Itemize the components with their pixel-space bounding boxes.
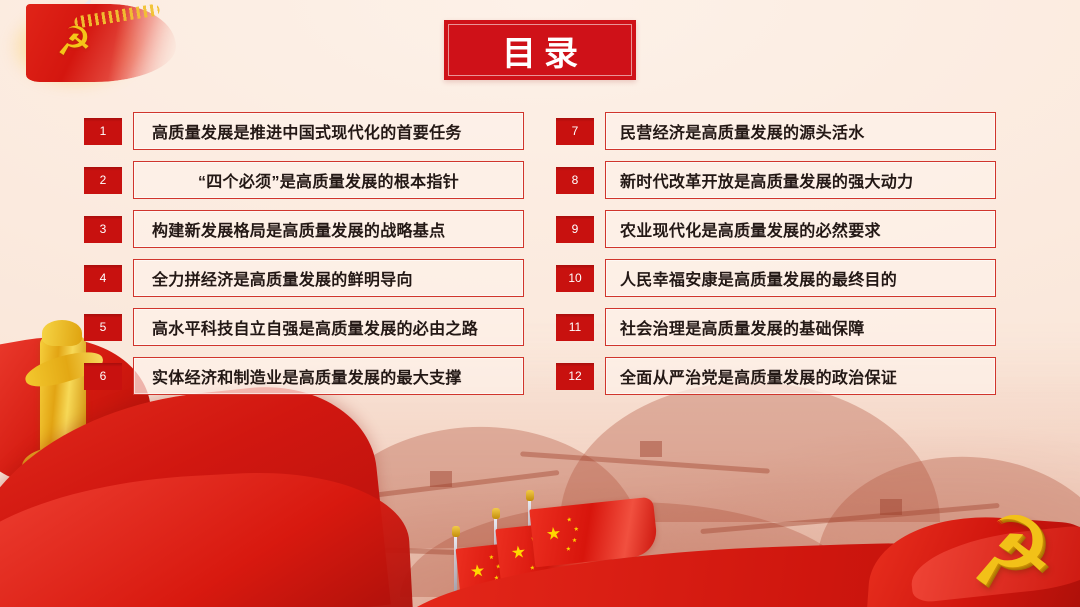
hammer-sickle-icon: ☭ xyxy=(56,22,98,62)
mini-flag-icon xyxy=(180,511,194,522)
toc-item-4[interactable]: 4 全力拼经济是高质量发展的鲜明导向 xyxy=(84,257,524,306)
toc-item-box[interactable]: 社会治理是高质量发展的基础保障 xyxy=(605,308,996,346)
spear-tip-icon xyxy=(30,9,48,30)
great-wall-segment xyxy=(360,547,780,567)
slide-title-box: 目录 xyxy=(444,20,636,80)
toc-item-label: “四个必须”是高质量发展的根本指针 xyxy=(198,168,459,192)
toc-item-box[interactable]: 构建新发展格局是高质量发展的战略基点 xyxy=(133,210,524,248)
red-ribbon xyxy=(393,534,1080,607)
party-emblem-decoration: ☭ xyxy=(890,497,1080,607)
toc-item-box[interactable]: 全面从严治党是高质量发展的政治保证 xyxy=(605,357,996,395)
flag-pole xyxy=(178,511,180,541)
side-flag-row xyxy=(294,539,340,561)
flag-pole xyxy=(214,509,216,539)
flag-cloth xyxy=(26,4,176,82)
toc-item-label: 社会治理是高质量发展的基础保障 xyxy=(606,315,865,339)
huabiao-column xyxy=(40,336,86,456)
gate-lower-roof xyxy=(50,469,312,501)
flag-finial xyxy=(492,508,500,519)
gate-banner-left: 中华人民共和国万岁 xyxy=(106,555,228,573)
toc-item-box[interactable]: 高质量发展是推进中国式现代化的首要任务 xyxy=(133,112,524,150)
mountain-ridge xyxy=(817,449,1080,575)
gate-wall xyxy=(38,535,324,587)
hammer-sickle-icon: ☭ xyxy=(968,505,1054,601)
gate-colonnade xyxy=(64,501,298,538)
toc-item-box[interactable]: 全力拼经济是高质量发展的鲜明导向 xyxy=(133,259,524,297)
mountain-ridge xyxy=(308,421,642,552)
tiananmen-gate: 中华人民共和国万岁 世界人民大团结万岁 xyxy=(20,415,320,585)
toc-number-badge: 4 xyxy=(84,265,122,292)
gate-portrait xyxy=(228,551,244,575)
flag-finial xyxy=(526,490,534,501)
toc-item-9[interactable]: 9 农业现代化是高质量发展的必然要求 xyxy=(556,208,996,257)
mini-flag-icon xyxy=(216,509,230,520)
toc-column-left: 1 高质量发展是推进中国式现代化的首要任务 2 “四个必须”是高质量发展的根本指… xyxy=(84,110,524,404)
toc-item-label: 实体经济和制造业是高质量发展的最大支撑 xyxy=(134,364,462,388)
toc-number-badge: 9 xyxy=(556,216,594,243)
toc-item-box[interactable]: 新时代改革开放是高质量发展的强大动力 xyxy=(605,161,996,199)
flag-pole xyxy=(454,535,457,597)
spear-rod xyxy=(77,11,95,38)
gold-star-icon: ★ xyxy=(84,472,99,492)
spear-tip-icon xyxy=(78,0,96,15)
china-national-flag: ★ ★ ★ ★ ★ xyxy=(456,537,569,600)
toc-item-box[interactable]: 农业现代化是高质量发展的必然要求 xyxy=(605,210,996,248)
toc-item-3[interactable]: 3 构建新发展格局是高质量发展的战略基点 xyxy=(84,208,524,257)
watchtower-icon xyxy=(880,499,902,515)
flag-finial xyxy=(452,526,460,537)
toc-item-box[interactable]: 实体经济和制造业是高质量发展的最大支撑 xyxy=(133,357,524,395)
toc-item-label: 全力拼经济是高质量发展的鲜明导向 xyxy=(134,266,413,290)
gate-eave xyxy=(76,453,288,469)
toc-item-label: 高水平科技自立自强是高质量发展的必由之路 xyxy=(134,315,478,339)
toc-item-label: 高质量发展是推进中国式现代化的首要任务 xyxy=(134,119,462,143)
toc-item-12[interactable]: 12 全面从严治党是高质量发展的政治保证 xyxy=(556,355,996,404)
toc-number-badge: 1 xyxy=(84,118,122,145)
mini-flag-icon xyxy=(148,507,162,518)
red-ribbon xyxy=(867,509,1080,607)
toc-item-box[interactable]: “四个必须”是高质量发展的根本指针 xyxy=(133,161,524,199)
toc-item-label: 全面从严治党是高质量发展的政治保证 xyxy=(606,364,897,388)
red-ribbon xyxy=(907,523,1080,604)
toc-number-badge: 11 xyxy=(556,314,594,341)
toc-number-badge: 5 xyxy=(84,314,122,341)
toc-item-label: 构建新发展格局是高质量发展的战略基点 xyxy=(134,217,445,241)
watchtower-icon xyxy=(640,441,662,457)
toc-number-badge: 12 xyxy=(556,363,594,390)
toc-number-badge: 6 xyxy=(84,363,122,390)
toc-item-8[interactable]: 8 新时代改革开放是高质量发展的强大动力 xyxy=(556,159,996,208)
toc-item-box[interactable]: 人民幸福安康是高质量发展的最终目的 xyxy=(605,259,996,297)
toc-number-badge: 10 xyxy=(556,265,594,292)
toc-item-box[interactable]: 高水平科技自立自强是高质量发展的必由之路 xyxy=(133,308,524,346)
spear-rod xyxy=(53,17,71,44)
toc-item-label: 新时代改革开放是高质量发展的强大动力 xyxy=(606,168,913,192)
great-wall-segment xyxy=(331,470,560,503)
flag-pole xyxy=(146,507,148,537)
page-title: 目录 xyxy=(494,26,586,75)
toc-item-label: 民营经济是高质量发展的源头活水 xyxy=(606,119,865,143)
presentation-slide: ☭ ★ ★ ★ 中华人民共和国万岁 世界人民大团结万岁 xyxy=(0,0,1080,607)
china-national-flag: ★ ★ ★ ★ ★ xyxy=(495,517,616,585)
china-national-flag: ★ ★ ★ ★ ★ xyxy=(529,497,658,568)
toc-number-badge: 7 xyxy=(556,118,594,145)
toc-item-box[interactable]: 民营经济是高质量发展的源头活水 xyxy=(605,112,996,150)
toc-column-right: 7 民营经济是高质量发展的源头活水 8 新时代改革开放是高质量发展的强大动力 9… xyxy=(556,110,996,404)
gold-star-icon: ★ xyxy=(8,487,20,503)
toc-number-badge: 3 xyxy=(84,216,122,243)
spear-tip-icon xyxy=(54,1,72,22)
red-ribbon xyxy=(0,465,414,607)
watchtower-icon xyxy=(430,471,452,487)
toc-item-7[interactable]: 7 民营经济是高质量发展的源头活水 xyxy=(556,110,996,159)
toc-item-1[interactable]: 1 高质量发展是推进中国式现代化的首要任务 xyxy=(84,110,524,159)
watchtower-icon xyxy=(520,539,542,555)
toc-item-5[interactable]: 5 高水平科技自立自强是高质量发展的必由之路 xyxy=(84,306,524,355)
red-ribbon xyxy=(0,376,391,607)
gate-banner-right: 世界人民大团结万岁 xyxy=(248,555,322,573)
spear-rod xyxy=(29,25,47,52)
great-wall-segment xyxy=(700,503,999,534)
flag-pole xyxy=(528,499,531,563)
flag-tassel xyxy=(74,3,161,28)
cpc-party-flag: ☭ xyxy=(0,0,200,114)
huabiao-base xyxy=(22,446,106,480)
toc-item-2[interactable]: 2 “四个必须”是高质量发展的根本指针 xyxy=(84,159,524,208)
flag-pole xyxy=(494,517,497,581)
great-wall-segment xyxy=(520,451,770,473)
toc-item-label: 人民幸福安康是高质量发展的最终目的 xyxy=(606,266,897,290)
flag-glow xyxy=(0,0,180,104)
toc-item-10[interactable]: 10 人民幸福安康是高质量发展的最终目的 xyxy=(556,257,996,306)
toc-item-6[interactable]: 6 实体经济和制造业是高质量发展的最大支撑 xyxy=(84,355,524,404)
gold-star-icon: ★ xyxy=(30,452,57,487)
toc-item-label: 农业现代化是高质量发展的必然要求 xyxy=(606,217,881,241)
national-flag-group: ★ ★ ★ ★ ★ ★ ★ ★ ★ ★ ★ ★ ★ ★ ★ xyxy=(404,497,644,607)
mountain-ridge xyxy=(400,502,860,597)
gate-upper-roof xyxy=(62,419,302,453)
toc-number-badge: 8 xyxy=(556,167,594,194)
toc-item-11[interactable]: 11 社会治理是高质量发展的基础保障 xyxy=(556,306,996,355)
toc-number-badge: 2 xyxy=(84,167,122,194)
